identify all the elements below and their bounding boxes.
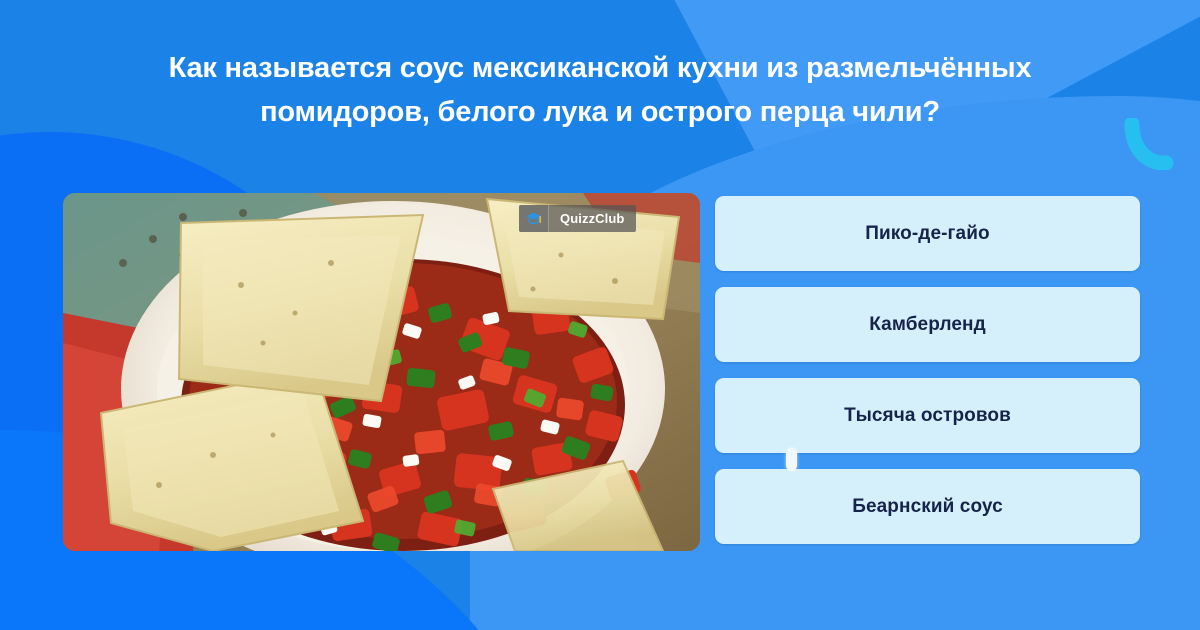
answer-option-2[interactable]: Камберленд [715, 287, 1140, 362]
answer-option-3-label: Тысяча островов [830, 405, 1025, 427]
watermark-badge: QuizzClub [519, 205, 636, 232]
answer-option-2-label: Камберленд [855, 314, 1000, 336]
graduation-cap-icon [519, 205, 549, 232]
quiz-card: Как называется соус мексиканской кухни и… [0, 0, 1200, 630]
question-text: Как называется соус мексиканской кухни и… [60, 46, 1140, 134]
answer-option-4[interactable]: Беарнский соус [715, 469, 1140, 544]
scroll-handle[interactable] [786, 448, 797, 471]
question-line-2: помидоров, белого лука и острого перца ч… [60, 90, 1140, 134]
answer-options-list: Пико-де-гайо Камберленд Тысяча островов … [715, 196, 1140, 544]
answer-option-4-label: Беарнский соус [838, 496, 1017, 518]
answer-option-1-label: Пико-де-гайо [851, 223, 1003, 245]
answer-option-3[interactable]: Тысяча островов [715, 378, 1140, 453]
question-line-1: Как называется соус мексиканской кухни и… [60, 46, 1140, 90]
question-image [63, 193, 700, 551]
answer-option-1[interactable]: Пико-де-гайо [715, 196, 1140, 271]
watermark-label: QuizzClub [549, 205, 636, 232]
pico-de-gallo-photo-art [63, 193, 700, 551]
